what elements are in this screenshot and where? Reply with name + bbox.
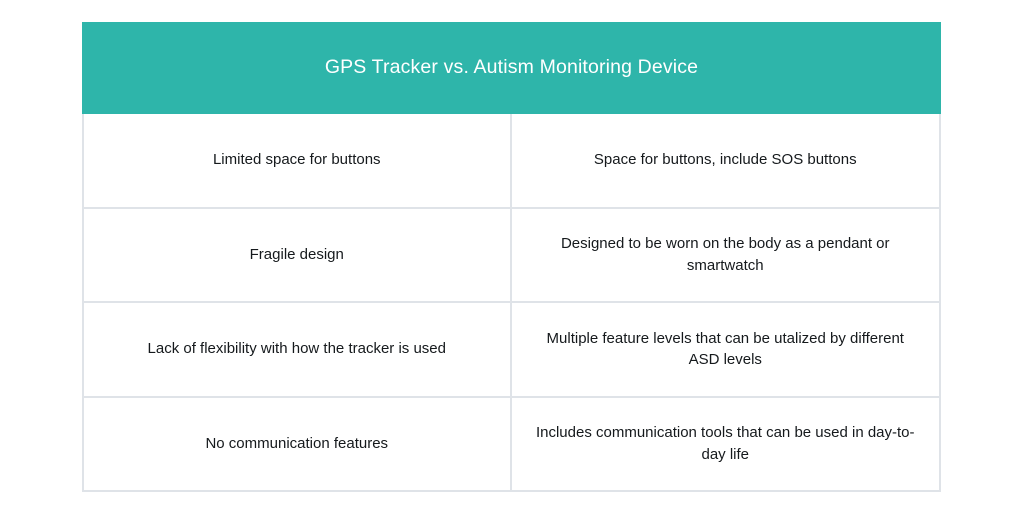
table-cell-left: Fragile design [84, 209, 512, 302]
table-cell-text: Limited space for buttons [213, 149, 381, 171]
table-cell-text: Lack of flexibility with how the tracker… [148, 338, 446, 360]
page-root: GPS Tracker vs. Autism Monitoring Device… [0, 0, 1024, 512]
table-cell-right: Includes communication tools that can be… [512, 398, 940, 491]
table-cell-text: Multiple feature levels that can be utal… [530, 328, 922, 372]
table-cell-left: No communication features [84, 398, 512, 491]
table-cell-text: Space for buttons, include SOS buttons [594, 149, 857, 171]
table-cell-text: No communication features [205, 433, 388, 455]
table-cell-left: Lack of flexibility with how the tracker… [84, 303, 512, 396]
table-cell-right: Space for buttons, include SOS buttons [512, 114, 940, 207]
table-row: Lack of flexibility with how the tracker… [84, 303, 939, 398]
table-cell-right: Designed to be worn on the body as a pen… [512, 209, 940, 302]
table-row: Fragile design Designed to be worn on th… [84, 209, 939, 304]
table-header: GPS Tracker vs. Autism Monitoring Device [82, 22, 941, 114]
table-cell-left: Limited space for buttons [84, 114, 512, 207]
table-header-title: GPS Tracker vs. Autism Monitoring Device [325, 55, 698, 80]
table-cell-text: Includes communication tools that can be… [530, 422, 922, 466]
table-cell-right: Multiple feature levels that can be utal… [512, 303, 940, 396]
table-cell-text: Fragile design [250, 244, 344, 266]
comparison-table: GPS Tracker vs. Autism Monitoring Device… [82, 22, 941, 492]
table-cell-text: Designed to be worn on the body as a pen… [530, 233, 922, 277]
table-row: Limited space for buttons Space for butt… [84, 114, 939, 209]
table-body: Limited space for buttons Space for butt… [82, 114, 941, 492]
table-row: No communication features Includes commu… [84, 398, 939, 491]
